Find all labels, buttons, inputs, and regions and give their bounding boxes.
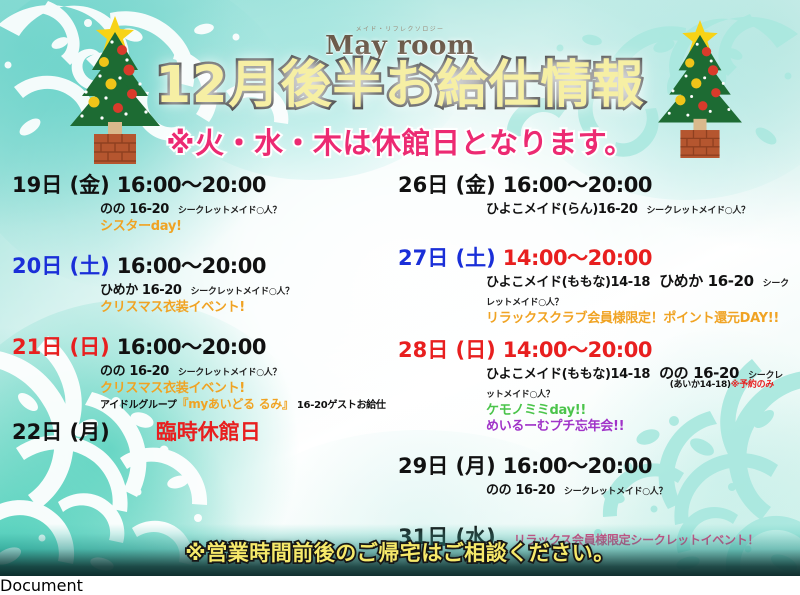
- schedule-column-right: 26日 (金)16:00〜20:00ひよこメイド(らん)16-20シークレットメ…: [398, 172, 790, 553]
- schedule-date: 20日 (土): [12, 253, 110, 279]
- schedule-entry: 29日 (月)16:00〜20:00のの 16-20シークレットメイド○人？: [398, 453, 790, 500]
- schedule-entry: 20日 (土)16:00〜20:00ひめか 16-20シークレットメイド○人？ク…: [12, 253, 392, 316]
- schedule-date: 22日 (月): [12, 419, 110, 445]
- closed-badge: 臨時休館日: [156, 419, 261, 445]
- schedule-entry-header: 21日 (日)16:00〜20:00: [12, 334, 392, 362]
- page-subtitle: ※火・水・木は休館日となります。: [0, 126, 800, 160]
- event-label: アイドルグループ『myあいどる るみ』 16-20ゲストお給仕: [100, 397, 392, 413]
- schedule-time: 16:00〜20:00: [117, 172, 266, 198]
- schedule-entry: 21日 (日)16:00〜20:00のの 16-20シークレットメイド○人？クリ…: [12, 334, 392, 413]
- schedule-detail: のの 16-20シークレットメイド○人？シスターday!: [12, 200, 392, 235]
- reservation-only-label: ※予約のみ: [731, 380, 774, 390]
- guest-maid-name: (あいか14-18): [670, 380, 731, 390]
- schedule-detail: ひよこメイド(らん)16-20シークレットメイド○人？: [398, 200, 790, 219]
- schedule-date: 27日 (土): [398, 245, 496, 271]
- schedule-date: 21日 (日): [12, 334, 110, 360]
- schedule-entry: 26日 (金)16:00〜20:00ひよこメイド(らん)16-20シークレットメ…: [398, 172, 790, 219]
- schedule-column-left: 19日 (金)16:00〜20:00のの 16-20シークレットメイド○人？シス…: [12, 172, 392, 447]
- schedule-entry-header: 28日 (日)14:00〜20:00: [398, 337, 790, 365]
- event-label: めいるーむプチ忘年会!!: [486, 419, 790, 435]
- secret-maid-note: シークレットメイド○人？: [191, 287, 294, 297]
- maid-name: ひよこメイド(ももな)14-18: [486, 275, 650, 290]
- maid-name: のの 16-20: [100, 364, 169, 379]
- schedule-entry: 27日 (土)14:00〜20:00ひよこメイド(ももな)14-18ひめか 16…: [398, 245, 790, 327]
- schedule-date: 29日 (月): [398, 453, 496, 479]
- idol-suffix: 16-20ゲストお給仕: [294, 400, 386, 411]
- maid-roster-line: ひよこメイド(ももな)14-18ひめか 16-20シークレットメイド○人？: [486, 273, 790, 311]
- idol-group-name: 『myあいどる るみ』: [177, 397, 294, 411]
- secret-maid-note: シークレットメイド○人？: [178, 206, 281, 216]
- schedule-detail: のの 16-20シークレットメイド○人？クリスマス衣装イベント!アイドルグループ…: [12, 362, 392, 413]
- event-label: シスターday!: [100, 219, 392, 235]
- maid-roster-line: のの 16-20シークレットメイド○人？: [486, 481, 790, 500]
- maid-roster-line: ひめか 16-20シークレットメイド○人？: [100, 281, 392, 300]
- maid-name: ひめか 16-20: [100, 283, 182, 298]
- bottom-banner-text: ※営業時間前後のご帰宅はご相談ください。: [185, 542, 614, 576]
- schedule-entry-header: 22日 (月)臨時休館日: [12, 419, 392, 447]
- event-label: クリスマス衣装イベント!: [100, 381, 392, 397]
- secret-maid-note: シークレットメイド○人？: [178, 368, 281, 378]
- brand-logo: メイド・リフレクソロジー May room: [0, 26, 800, 60]
- schedule-entry: 28日 (日)14:00〜20:00ひよこメイド(ももな)14-18のの 16-…: [398, 337, 790, 435]
- schedule-detail: のの 16-20シークレットメイド○人？: [398, 481, 790, 500]
- schedule-entry-header: 26日 (金)16:00〜20:00: [398, 172, 790, 200]
- maid-name: ひよこメイド(ももな)14-18: [486, 367, 650, 382]
- schedule-entry: 22日 (月)臨時休館日: [12, 419, 392, 447]
- schedule-entry-header: 29日 (月)16:00〜20:00: [398, 453, 790, 481]
- schedule-date: 28日 (日): [398, 337, 496, 363]
- maid-roster-line: のの 16-20シークレットメイド○人？: [100, 200, 392, 219]
- schedule-time: 16:00〜20:00: [117, 334, 266, 360]
- event-label: ケモノミミday!!: [486, 403, 790, 419]
- schedule-detail: ひよこメイド(ももな)14-18ひめか 16-20シークレットメイド○人？リラッ…: [398, 273, 790, 327]
- secret-maid-note: シークレットメイド○人？: [564, 487, 667, 497]
- schedule-time: 14:00〜20:00: [503, 245, 652, 271]
- schedule-entry-header: 27日 (土)14:00〜20:00: [398, 245, 790, 273]
- maid-name: ひめか 16-20: [659, 272, 754, 290]
- schedule-time: 16:00〜20:00: [503, 453, 652, 479]
- bottom-banner: ※営業時間前後のご帰宅はご相談ください。: [0, 524, 800, 576]
- maid-roster-line: のの 16-20シークレットメイド○人？: [100, 362, 392, 381]
- schedule-date: 19日 (金): [12, 172, 110, 198]
- schedule-detail: ひめか 16-20シークレットメイド○人？クリスマス衣装イベント!: [12, 281, 392, 316]
- schedule-time: 16:00〜20:00: [503, 172, 652, 198]
- maid-roster-line: ひよこメイド(らん)16-20シークレットメイド○人？: [486, 200, 790, 219]
- event-label: クリスマス衣装イベント!: [100, 300, 392, 316]
- maid-name: のの 16-20: [100, 202, 169, 217]
- secret-maid-note: シークレットメイド○人？: [646, 206, 749, 216]
- maid-name: のの 16-20: [486, 483, 555, 498]
- schedule-entry-header: 20日 (土)16:00〜20:00: [12, 253, 392, 281]
- schedule-time: 14:00〜20:00: [503, 337, 652, 363]
- schedule-date: 26日 (金): [398, 172, 496, 198]
- maid-name: ひよこメイド(らん)16-20: [486, 202, 637, 217]
- schedule-detail: ひよこメイド(ももな)14-18のの 16-20シークレットメイド○人？(あいか…: [398, 365, 790, 435]
- reservation-only-note: (あいか14-18)※予約のみ: [670, 378, 774, 393]
- page-title: 12月後半お給仕情報: [0, 58, 800, 114]
- schedule-entry-header: 19日 (金)16:00〜20:00: [12, 172, 392, 200]
- idol-prefix: アイドルグループ: [100, 400, 177, 411]
- poster-root: メイド・リフレクソロジー May room 12月後半お給仕情報 ※火・水・木は…: [0, 0, 800, 576]
- schedule-time: 16:00〜20:00: [117, 253, 266, 279]
- schedule-entry: 19日 (金)16:00〜20:00のの 16-20シークレットメイド○人？シス…: [12, 172, 392, 235]
- event-label: リラックスクラブ会員様限定！ポイント還元DAY!!: [486, 311, 790, 327]
